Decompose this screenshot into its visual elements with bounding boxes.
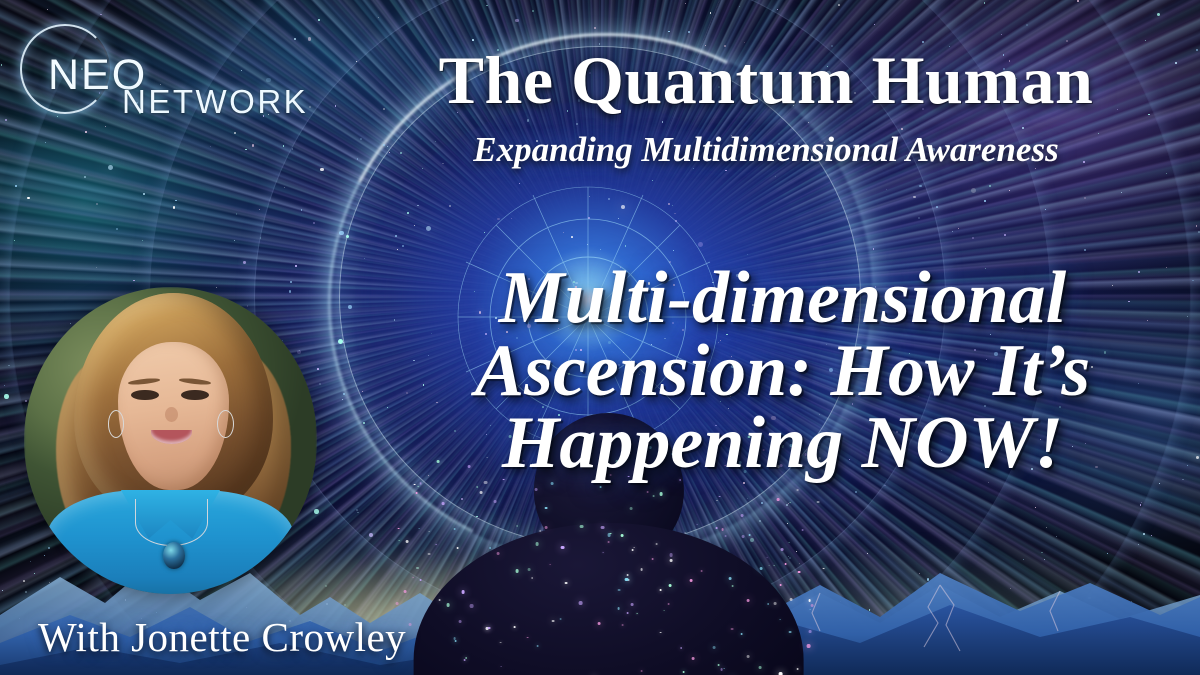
neo-network-logo[interactable]: NEO NETWORK xyxy=(12,14,332,126)
portrait-eye-right xyxy=(181,390,209,400)
episode-title: Multi-dimensional Ascension: How It’s Ha… xyxy=(370,262,1195,480)
show-title: The Quantum Human xyxy=(346,46,1186,114)
figure-shoulders xyxy=(414,523,804,675)
episode-title-line-1: Multi-dimensional xyxy=(370,262,1195,335)
portrait-nose xyxy=(165,407,178,422)
portrait-earring-right xyxy=(217,410,234,438)
video-thumbnail-poster: NEO NETWORK The Quantum Human Expanding … xyxy=(0,0,1200,675)
logo-network-text: NETWORK xyxy=(122,83,308,121)
portrait-eye-left xyxy=(131,390,159,400)
show-subtitle: Expanding Multidimensional Awareness xyxy=(346,131,1186,170)
portrait-necklace-chain xyxy=(135,499,207,546)
episode-title-line-2: Ascension: How It’s xyxy=(370,335,1195,408)
episode-title-line-3: Happening NOW! xyxy=(370,407,1195,480)
portrait-earring-left xyxy=(108,410,125,438)
presenter-portrait-avatar xyxy=(24,287,317,594)
presenter-credit: With Jonette Crowley xyxy=(38,613,406,661)
